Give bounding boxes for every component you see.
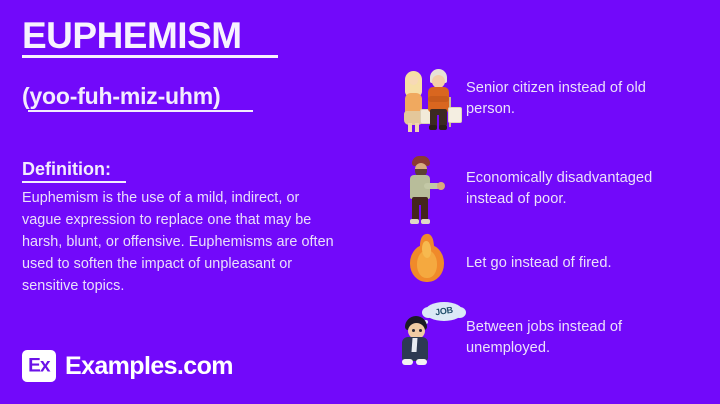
elderly-couple-icon	[400, 63, 466, 135]
unemployed-man-icon: JOB	[400, 302, 466, 374]
example-text: Let go instead of fired.	[466, 253, 698, 274]
definition-body: Euphemism is the use of a mild, indirect…	[22, 188, 342, 297]
flame-icon	[400, 228, 466, 300]
example-row: Let go instead of fired.	[400, 236, 710, 292]
poor-man-icon	[400, 153, 466, 225]
example-row: JOB Between jobs instead of unemployed.	[400, 302, 710, 374]
example-text: Economically disadvantaged instead of po…	[466, 168, 698, 210]
examples-column: Senior citizen instead of old person.	[400, 0, 710, 404]
definition-heading-underline	[22, 181, 126, 183]
example-row: Economically disadvantaged instead of po…	[400, 148, 710, 230]
left-column: EUPHEMISM (yoo-fuh-miz-uhm) Definition: …	[22, 0, 372, 404]
example-text: Between jobs instead of unemployed.	[466, 317, 698, 359]
example-row: Senior citizen instead of old person.	[400, 62, 710, 136]
example-text: Senior citizen instead of old person.	[466, 78, 698, 120]
definition-heading: Definition:	[22, 160, 111, 180]
logo-mark-text: Ex	[28, 356, 50, 375]
logo-mark-icon: Ex	[22, 350, 56, 382]
examples-com-logo[interactable]: Ex Examples.com	[22, 350, 233, 382]
logo-wordmark: Examples.com	[65, 354, 233, 379]
title-underline	[22, 55, 278, 58]
pronunciation-underline	[28, 110, 253, 112]
pronunciation-text: (yoo-fuh-miz-uhm)	[22, 84, 220, 109]
page-title: EUPHEMISM	[22, 17, 242, 54]
euphemism-infographic-slide: EUPHEMISM (yoo-fuh-miz-uhm) Definition: …	[0, 0, 720, 404]
